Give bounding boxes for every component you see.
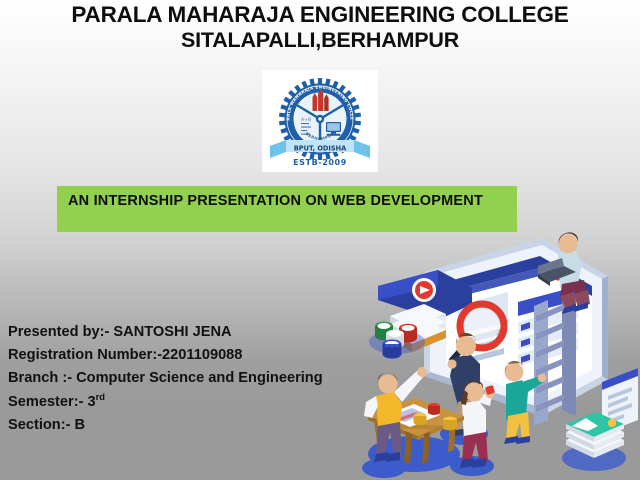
presentation-slide: PARALA MAHARAJA ENGINEERING COLLEGE SITA… <box>0 0 640 480</box>
title-line-1: PARALA MAHARAJA ENGINEERING COLLEGE <box>0 2 640 28</box>
svg-text:ESTB-2009: ESTB-2009 <box>293 158 347 167</box>
presenter-details: Presented by:- SANTOSHI JENA Registratio… <box>8 321 380 437</box>
svg-text:BPUT, ODISHA: BPUT, ODISHA <box>294 145 347 153</box>
detail-semester-text: Semester:- 3 <box>8 394 96 410</box>
svg-text:A+B: A+B <box>301 117 311 123</box>
detail-section: Section:- B <box>8 414 380 437</box>
page-title: PARALA MAHARAJA ENGINEERING COLLEGE SITA… <box>0 2 640 53</box>
web-development-illustration <box>362 230 640 480</box>
title-line-2: SITALAPALLI,BERHAMPUR <box>0 28 640 53</box>
presentation-topic-text: AN INTERNSHIP PRESENTATION ON WEB DEVELO… <box>68 192 508 212</box>
college-logo-emblem-icon: A+B PARALA MAHARAJA ENGINEERI <box>262 70 378 172</box>
detail-branch: Branch :- Computer Science and Engineeri… <box>8 367 380 390</box>
detail-registration-number: Registration Number:-2201109088 <box>8 344 380 367</box>
presentation-topic-banner: AN INTERNSHIP PRESENTATION ON WEB DEVELO… <box>57 186 517 232</box>
college-logo: A+B PARALA MAHARAJA ENGINEERI <box>262 70 378 172</box>
detail-presented-by: Presented by:- SANTOSHI JENA <box>8 321 380 344</box>
detail-semester: Semester:- 3rd <box>8 391 380 414</box>
detail-semester-ordinal: rd <box>96 391 105 402</box>
